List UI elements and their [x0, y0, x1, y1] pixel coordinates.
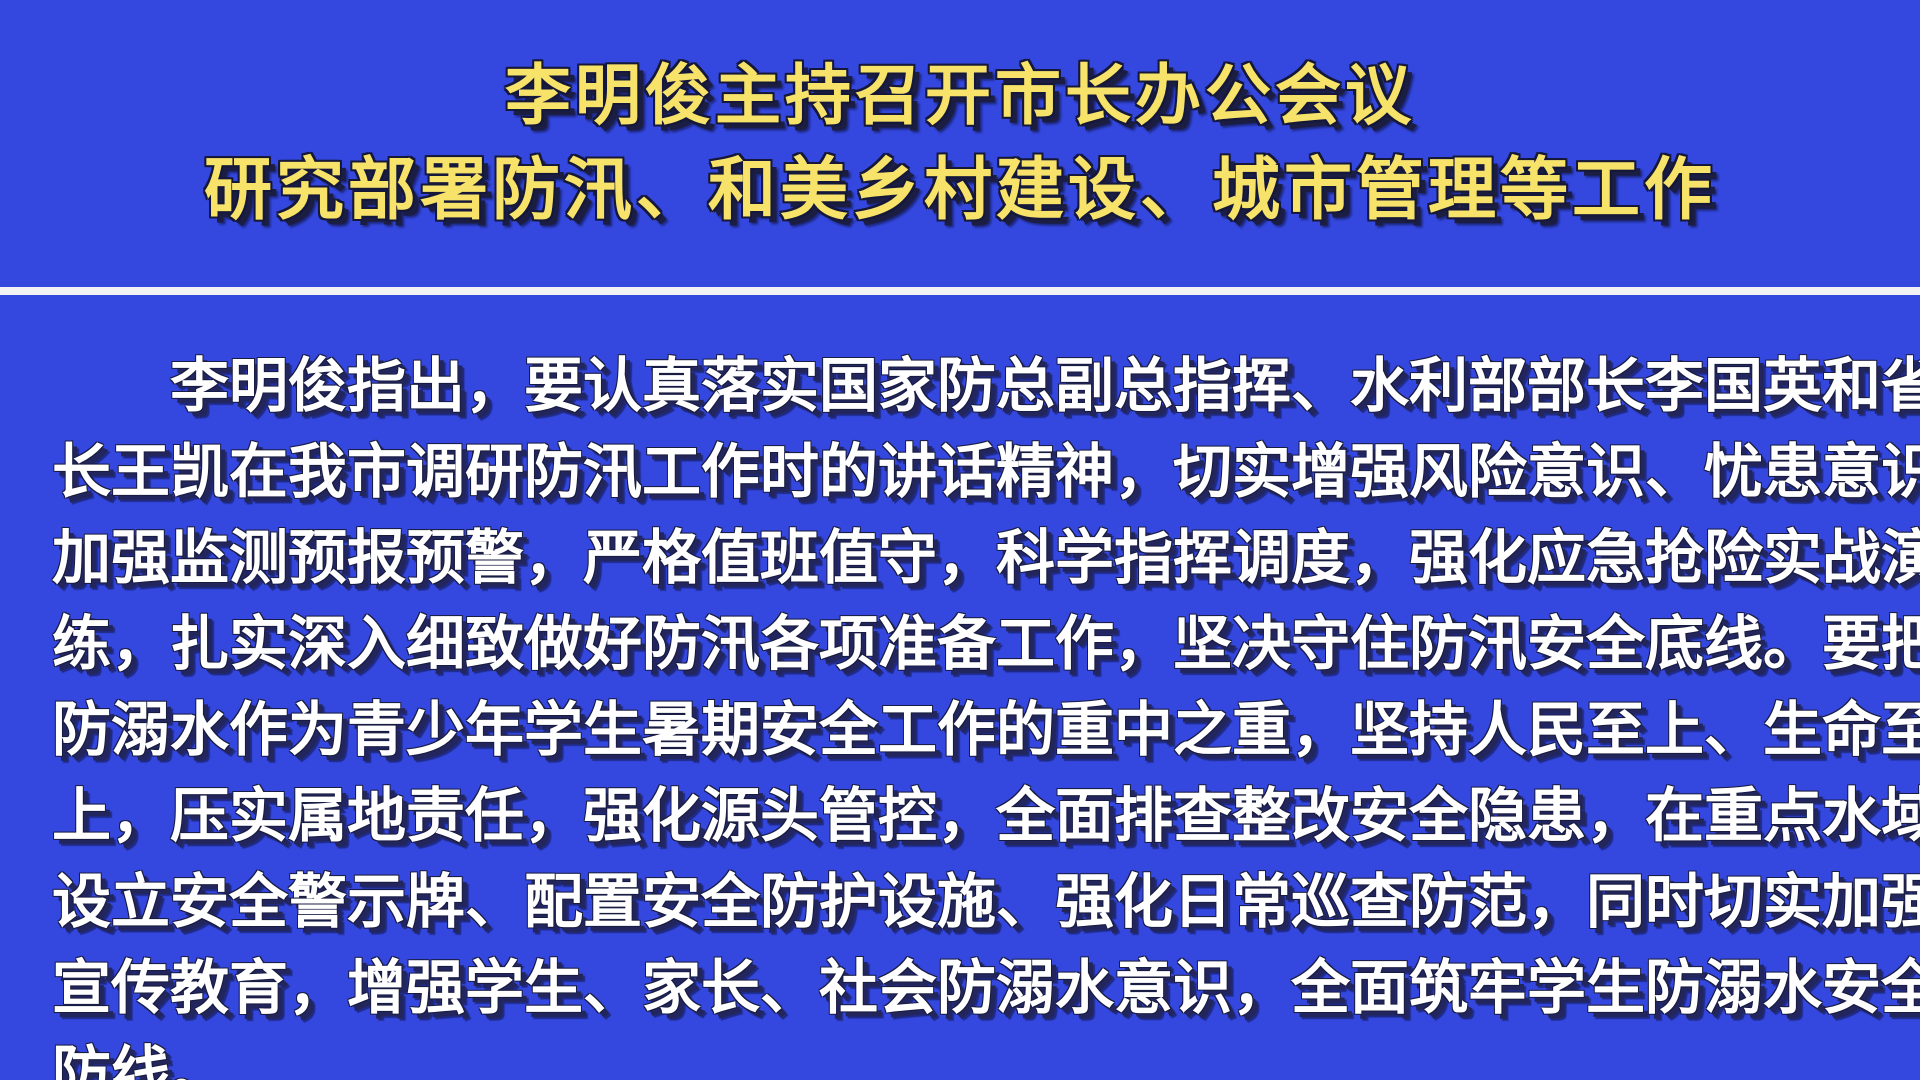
body-line: 设立安全警示牌、配置安全防护设施、强化日常巡查防范，同时切实加强	[52, 859, 1882, 945]
body-line: 加强监测预报预警，严格值班值守，科学指挥调度，强化应急抢险实战演	[52, 515, 1882, 601]
headline-line-1: 李明俊主持召开市长办公会议	[505, 53, 1415, 137]
title-banner: 李明俊主持召开市长办公会议 研究部署防汛、和美乡村建设、城市管理等工作	[0, 0, 1920, 287]
headline-line-2: 研究部署防汛、和美乡村建设、城市管理等工作	[204, 147, 1716, 234]
body-line: 长王凯在我市调研防汛工作时的讲话精神，切实增强风险意识、忧患意识，	[52, 429, 1882, 515]
body-line: 防线。	[52, 1031, 1882, 1080]
body-line: 练，扎实深入细致做好防汛各项准备工作，坚决守住防汛安全底线。要把	[52, 601, 1882, 687]
body-line: 上，压实属地责任，强化源头管控，全面排查整改安全隐患，在重点水域	[52, 773, 1882, 859]
body-panel: 李明俊指出，要认真落实国家防总副总指挥、水利部部长李国英和省 长王凯在我市调研防…	[0, 295, 1920, 1080]
body-paragraph: 李明俊指出，要认真落实国家防总副总指挥、水利部部长李国英和省 长王凯在我市调研防…	[52, 343, 1882, 1080]
body-line: 李明俊指出，要认真落实国家防总副总指挥、水利部部长李国英和省	[52, 343, 1882, 429]
body-line: 宣传教育，增强学生、家长、社会防溺水意识，全面筑牢学生防溺水安全	[52, 945, 1882, 1031]
body-line: 防溺水作为青少年学生暑期安全工作的重中之重，坚持人民至上、生命至	[52, 687, 1882, 773]
banner-divider	[0, 287, 1920, 295]
news-lower-third-slide: 李明俊主持召开市长办公会议 研究部署防汛、和美乡村建设、城市管理等工作 李明俊指…	[0, 0, 1920, 1080]
